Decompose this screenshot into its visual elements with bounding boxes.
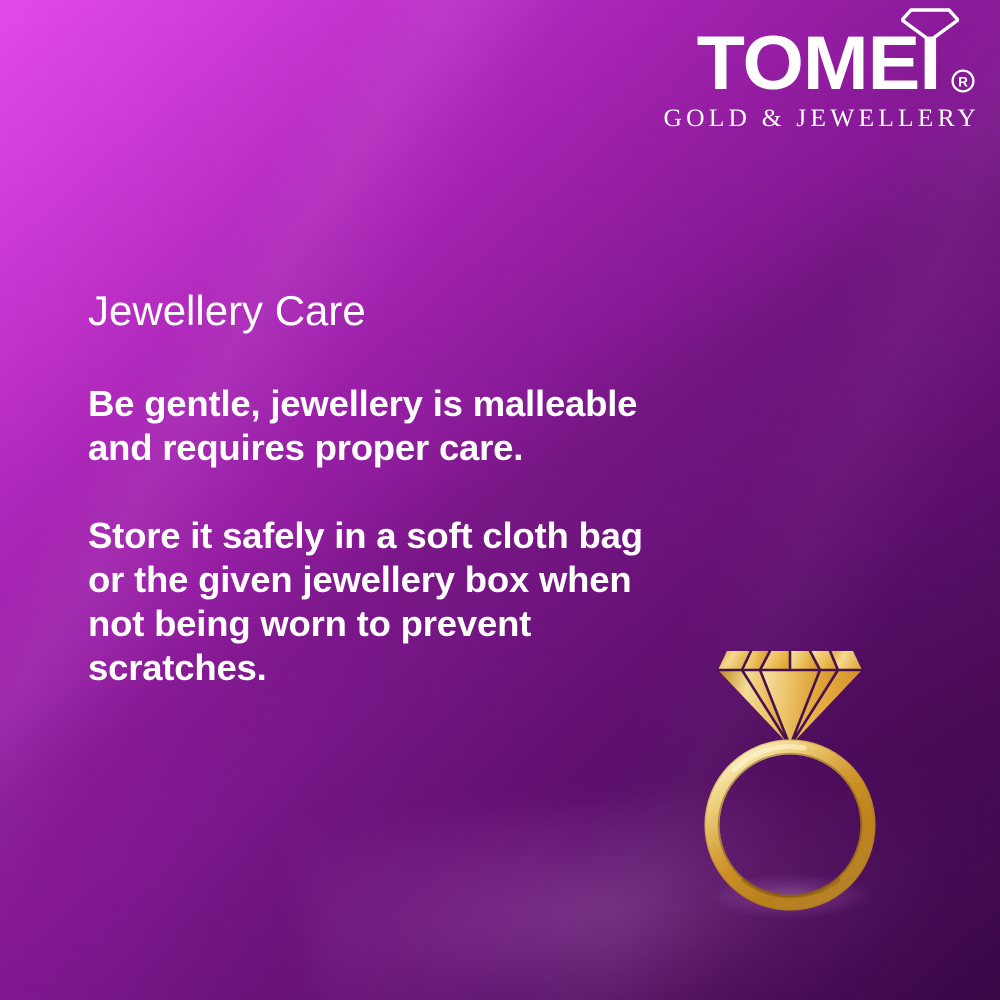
gold-diamond-icon <box>718 651 862 746</box>
brand-name: TOMEI <box>696 26 940 102</box>
brand-logo-wordmark-row: TOMEI R <box>652 6 982 102</box>
svg-text:R: R <box>958 74 968 89</box>
registered-trademark-icon: R <box>950 68 976 94</box>
brand-logo: TOMEI R GOLD & JEWELLERY <box>652 6 982 132</box>
brand-tagline: GOLD & JEWELLERY <box>652 104 982 132</box>
care-paragraph-1: Be gentle, jewellery is malleable and re… <box>88 382 648 470</box>
care-paragraph-2: Store it safely in a soft cloth bag or t… <box>88 514 648 690</box>
copy-block: Jewellery Care Be gentle, jewellery is m… <box>88 286 688 690</box>
diamond-ring-illustration <box>686 628 896 928</box>
jewellery-care-card: TOMEI R GOLD & JEWELLERY Jewellery Care … <box>0 0 1000 1000</box>
page-title: Jewellery Care <box>88 286 688 336</box>
